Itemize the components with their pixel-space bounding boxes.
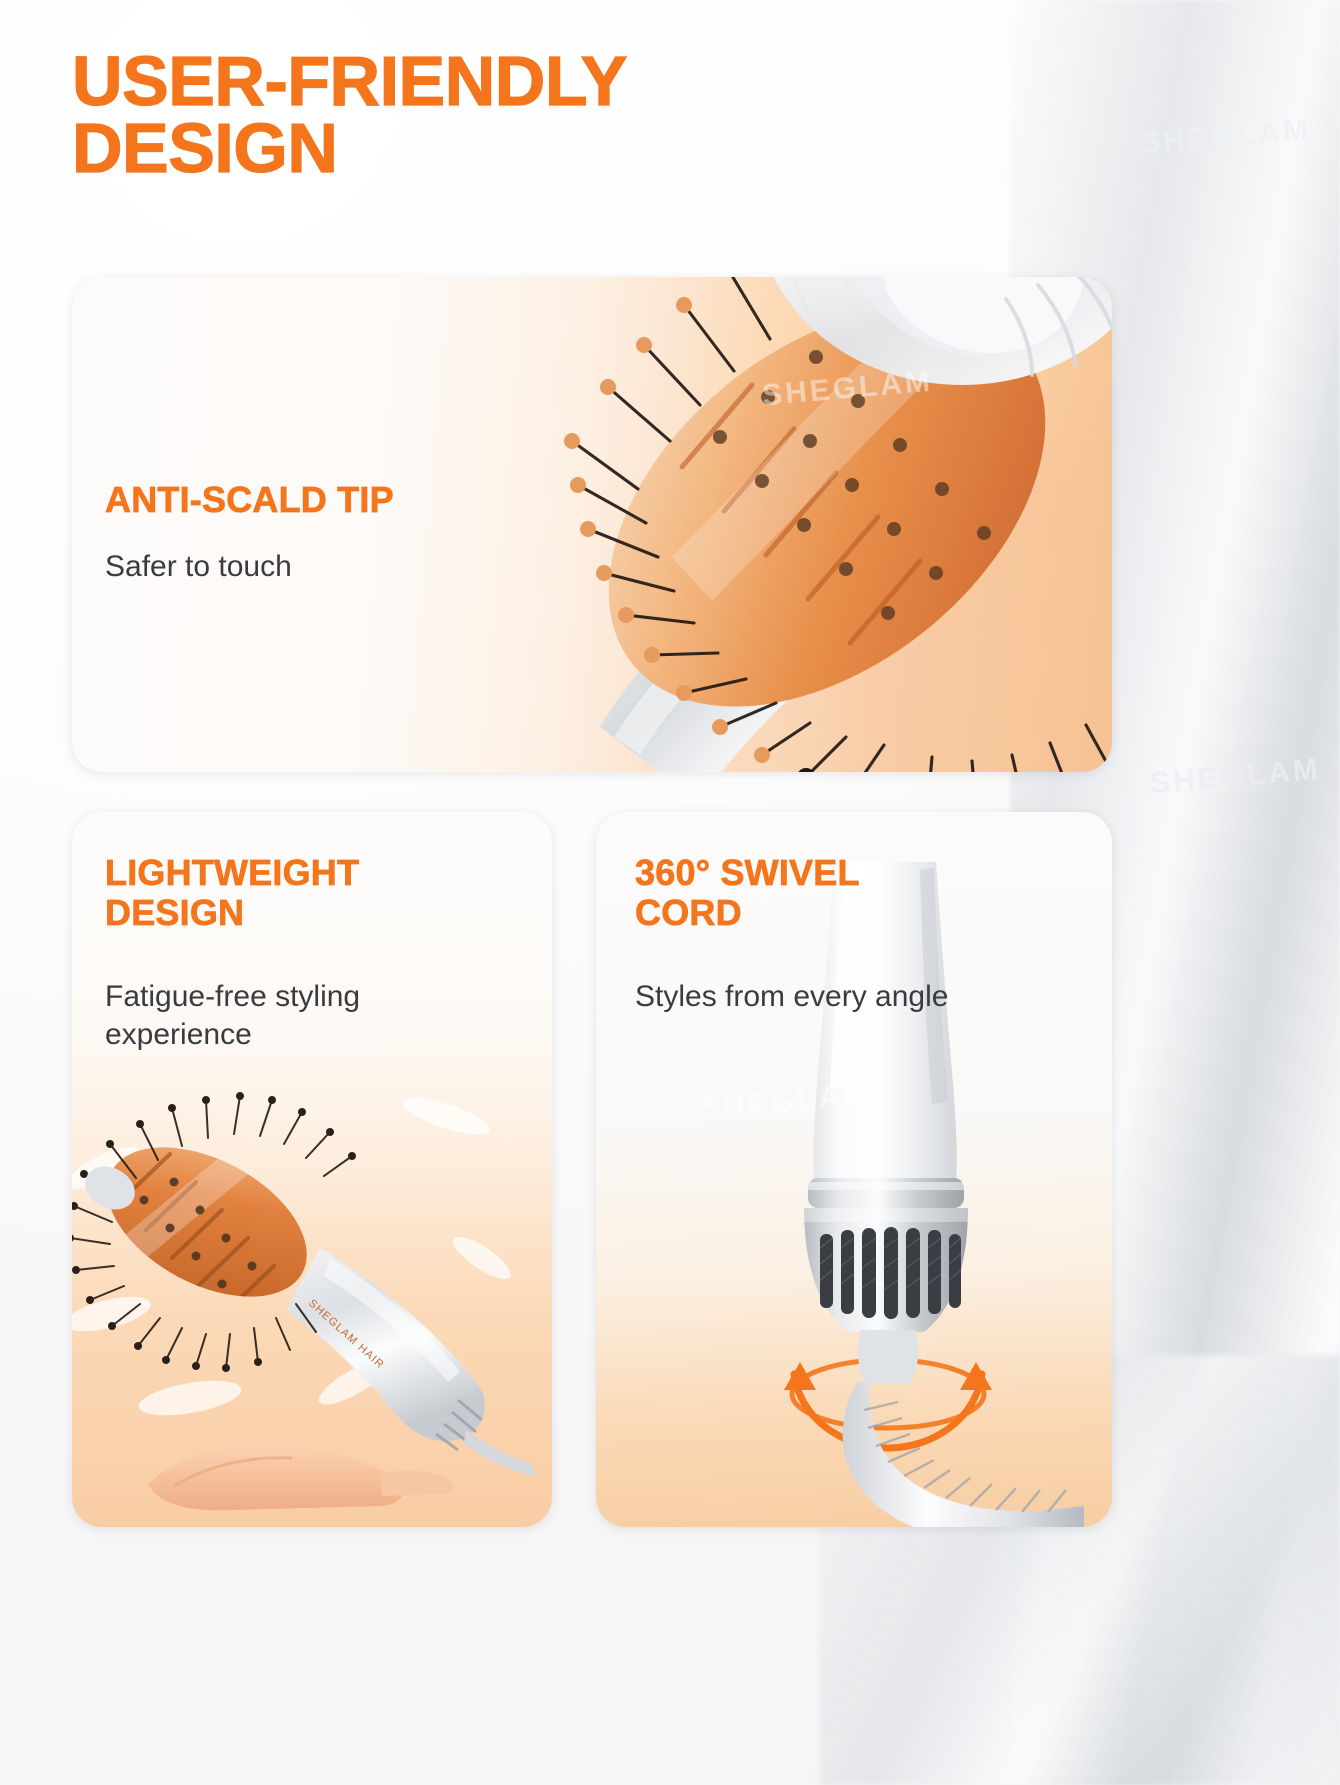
- card-heading-line-2: CORD: [635, 892, 742, 933]
- card-heading-line-2: DESIGN: [105, 892, 244, 933]
- card-subtext-line-1: Fatigue-free styling: [105, 980, 360, 1013]
- rotation-arrows-icon: [794, 1374, 982, 1448]
- open-hand: [148, 1443, 453, 1510]
- product-image-swivel-cord: [684, 862, 1084, 1527]
- card-heading-line-1: LIGHTWEIGHT: [105, 852, 359, 893]
- card-anti-scald-tip: SHEGLAM SHEGLAM: [72, 277, 1112, 772]
- page-title: USER-FRIENDLY DESIGN: [72, 48, 772, 182]
- product-image-brush-closeup: [432, 277, 1112, 772]
- card-subtext-swivel-cord: Styles from every angle: [635, 978, 1065, 1016]
- card-subtext-line-2: experience: [105, 1018, 252, 1051]
- card-heading-swivel-cord: 360° SWIVEL CORD: [635, 853, 1055, 934]
- card-heading-anti-scald-tip: ANTI-SCALD TIP: [105, 480, 394, 520]
- card-subtext-lightweight-design: Fatigue-free styling experience: [105, 978, 485, 1053]
- product-image-brush-over-hand: SHEGLAM HAIR: [72, 1082, 552, 1527]
- card-heading-lightweight-design: LIGHTWEIGHT DESIGN: [105, 853, 485, 934]
- card-heading-line-1: 360° SWIVEL: [635, 852, 860, 893]
- card-subtext-anti-scald-tip: Safer to touch: [105, 548, 292, 586]
- page-title-line-2: DESIGN: [72, 115, 772, 182]
